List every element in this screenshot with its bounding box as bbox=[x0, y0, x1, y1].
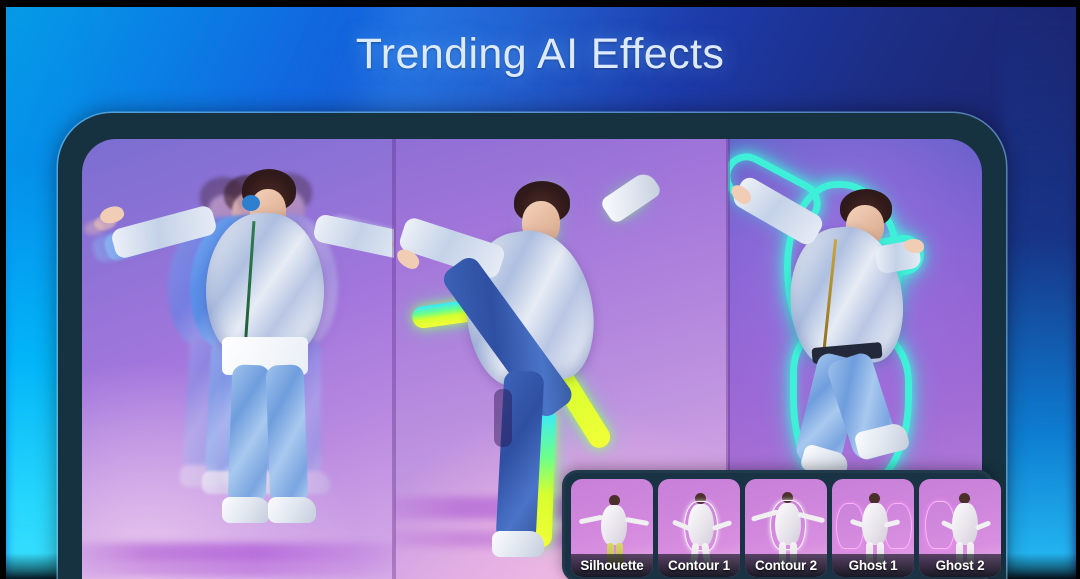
page-title: Trending AI Effects bbox=[0, 30, 1080, 79]
effect-thumb-ghost-1[interactable]: Ghost 1 bbox=[832, 479, 914, 577]
effect-thumb-contour-2[interactable]: Contour 2 bbox=[745, 479, 827, 577]
effect-thumb-ghost-2[interactable]: Ghost 2 bbox=[919, 479, 1001, 577]
floor-shadow-secondary bbox=[82, 563, 394, 577]
effect-thumb-label: Silhouette bbox=[571, 554, 653, 577]
effect-thumb-contour-1[interactable]: Contour 1 bbox=[658, 479, 740, 577]
effect-thumb-label: Ghost 1 bbox=[832, 554, 914, 577]
effect-thumb-silhouette[interactable]: Silhouette bbox=[571, 479, 653, 577]
effect-thumb-label: Contour 2 bbox=[745, 554, 827, 577]
floor-shadow bbox=[82, 543, 394, 563]
preview-panel-ghost-echo[interactable] bbox=[82, 139, 394, 579]
panel-divider-1 bbox=[392, 139, 396, 579]
background-right-glow bbox=[1002, 7, 1076, 579]
effect-thumb-label: Ghost 2 bbox=[919, 554, 1001, 577]
screenshot-root: Trending AI Effects bbox=[0, 0, 1080, 579]
effects-carousel[interactable]: Silhouette Contour 1 bbox=[562, 470, 994, 579]
effect-thumb-label: Contour 1 bbox=[658, 554, 740, 577]
